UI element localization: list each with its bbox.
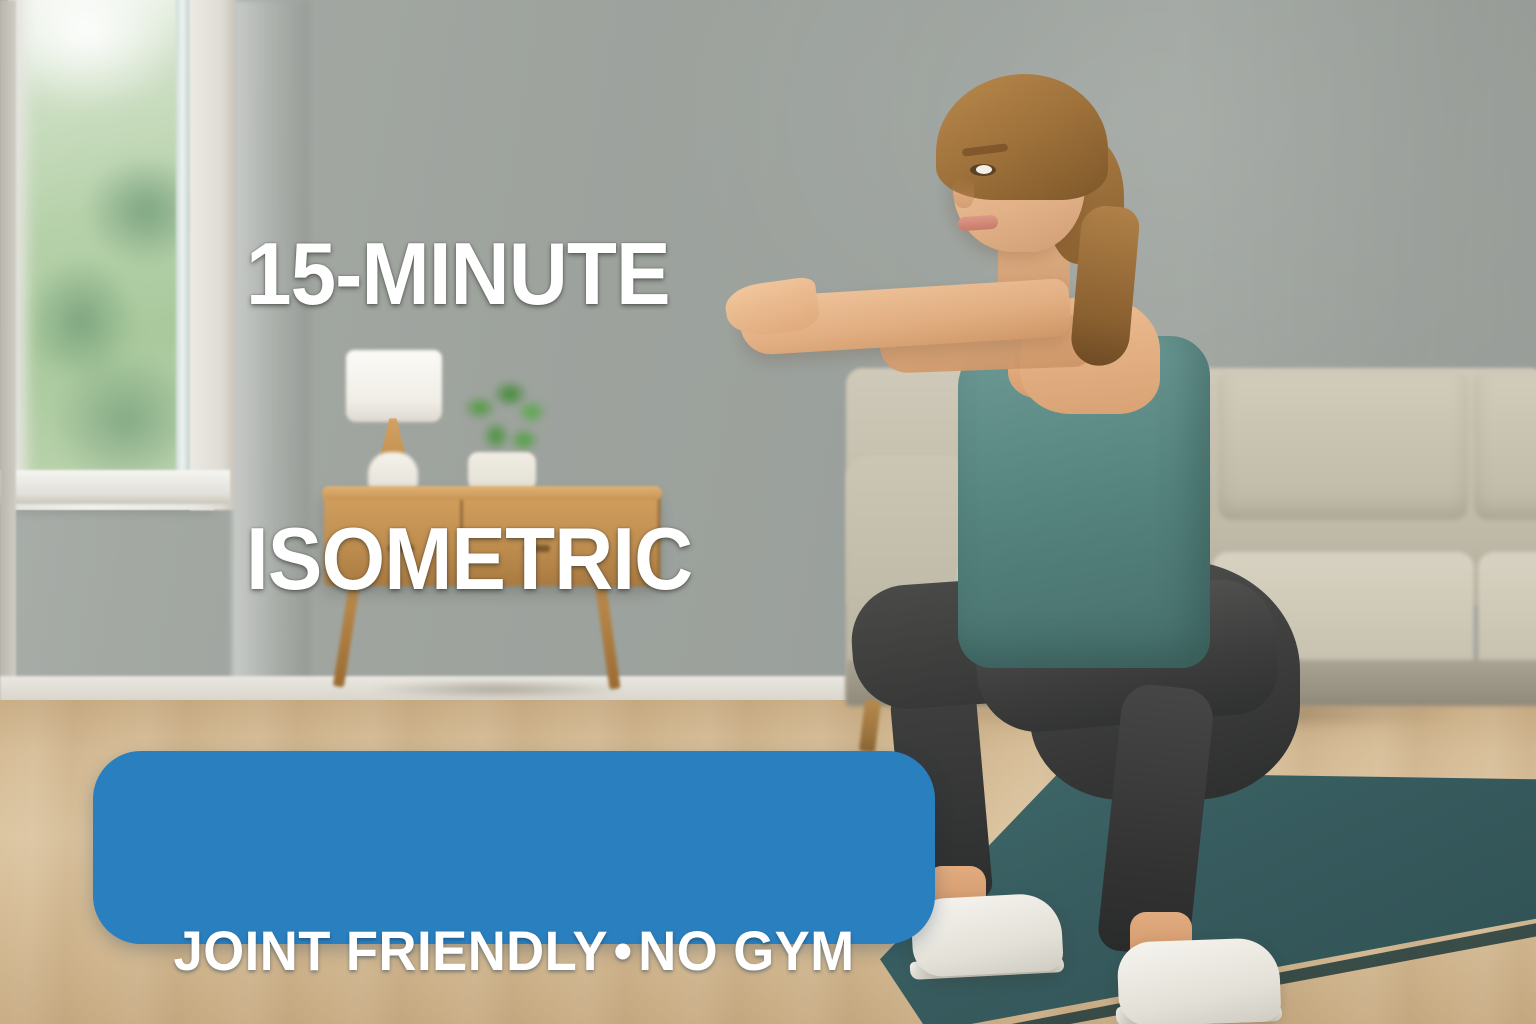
nose <box>952 178 974 208</box>
headline-line-2: ISOMETRIC <box>246 511 725 606</box>
banner-benefit-joint-friendly: JOINT FRIENDLY <box>173 919 608 982</box>
banner-benefit-no-gym: NO GYM <box>638 919 854 982</box>
sofa-back-cushion <box>1474 372 1536 520</box>
poster-canvas: 15-MINUTE ISOMETRIC WORKOUTS JOINT FRIEN… <box>0 0 1536 1024</box>
lips <box>958 215 999 232</box>
banner-text-block: JOINT FRIENDLY•NO GYM TONES & STRENGTHEN… <box>93 771 935 1024</box>
headline-line-1: 15-MINUTE <box>246 226 725 321</box>
window-jamb <box>190 0 236 510</box>
banner-line-1: JOINT FRIENDLY•NO GYM <box>118 915 909 987</box>
window-glass-foliage-view <box>26 0 188 482</box>
sneaker-front <box>1117 937 1282 1024</box>
benefits-banner: JOINT FRIENDLY•NO GYM TONES & STRENGTHEN… <box>93 751 935 944</box>
bullet-separator-icon: • <box>608 915 638 987</box>
window-sill <box>0 470 230 504</box>
eye-highlight <box>976 165 992 174</box>
wall-left-edge <box>0 0 16 712</box>
window-mullion <box>176 0 190 482</box>
